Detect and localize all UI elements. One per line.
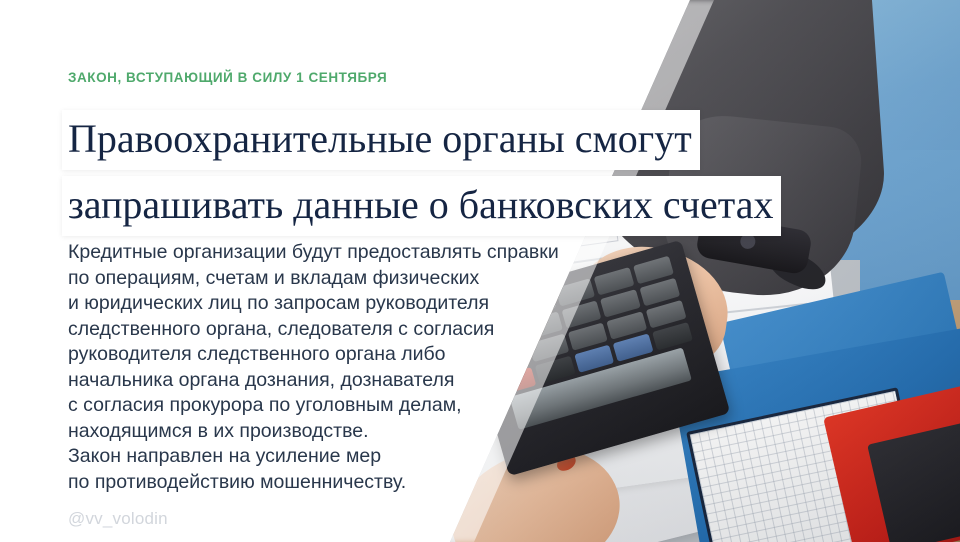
body-line: по операциям, счетам и вкладам физически… (68, 266, 559, 292)
headline-line-2: запрашивать данные о банковских счетах (62, 176, 781, 236)
headline-line-1: Правоохранительные органы смогут (62, 110, 700, 170)
eyebrow-label: ЗАКОН, ВСТУПАЮЩИЙ В СИЛУ 1 СЕНТЯБРЯ (68, 70, 387, 85)
body-paragraph: Кредитные организации будут предоставлят… (68, 240, 559, 495)
body-line: начальника органа дознания, дознавателя (68, 368, 559, 394)
body-line: по противодействию мошенничеству. (68, 470, 559, 496)
social-handle: @vv_volodin (68, 509, 168, 529)
body-line: находящимся в их производстве. (68, 419, 559, 445)
body-line: Закон направлен на усиление мер (68, 444, 559, 470)
body-line: с согласия прокурора по уголовным делам, (68, 393, 559, 419)
body-line: и юридических лиц по запросам руководите… (68, 291, 559, 317)
infographic-card: ЗАКОН, ВСТУПАЮЩИЙ В СИЛУ 1 СЕНТЯБРЯ Прав… (0, 0, 960, 542)
body-line: Кредитные организации будут предоставлят… (68, 240, 559, 266)
body-line: руководителя следственного органа либо (68, 342, 559, 368)
body-line: следственного органа, следователя с согл… (68, 317, 559, 343)
headline: Правоохранительные органы смогут запраши… (62, 110, 781, 242)
